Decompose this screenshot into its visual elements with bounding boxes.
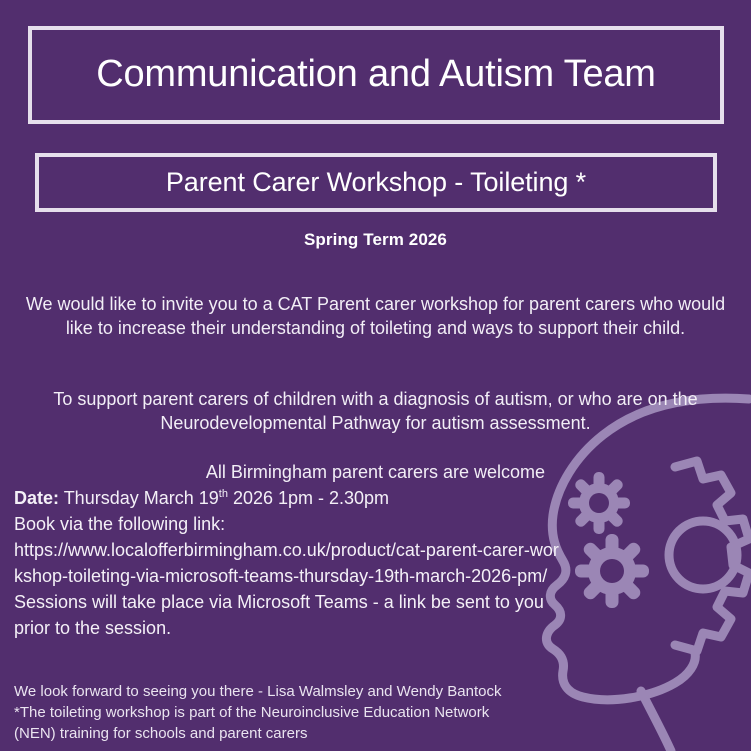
intro-paragraph-invite: We would like to invite you to a CAT Par… bbox=[14, 292, 737, 340]
date-label: Date: bbox=[14, 488, 59, 508]
subtitle-box: Parent Carer Workshop - Toileting * bbox=[35, 153, 717, 212]
date-ordinal-suffix: th bbox=[219, 488, 228, 500]
sessions-note-line: Sessions will take place via Microsoft T… bbox=[14, 589, 559, 641]
booking-link[interactable]: https://www.localofferbirmingham.co.uk/p… bbox=[14, 537, 559, 589]
intro-paragraph-eligibility: To support parent carers of children wit… bbox=[14, 387, 737, 435]
booking-intro-line: Book via the following link: bbox=[14, 511, 559, 537]
large-gear-icon bbox=[669, 461, 749, 651]
term-label: Spring Term 2026 bbox=[0, 230, 751, 250]
sign-off-line: We look forward to seeing you there - Li… bbox=[14, 681, 559, 702]
small-gear-lower-icon bbox=[575, 534, 649, 608]
intro-paragraph-welcome: All Birmingham parent carers are welcome bbox=[14, 460, 737, 484]
workshop-subtitle: Parent Carer Workshop - Toileting * bbox=[166, 168, 586, 198]
footer-block: We look forward to seeing you there - Li… bbox=[14, 681, 559, 744]
page-title: Communication and Autism Team bbox=[96, 54, 656, 96]
date-value-part1: Thursday March 19 bbox=[59, 488, 219, 508]
date-line: Date: Thursday March 19th 2026 1pm - 2.3… bbox=[14, 485, 559, 511]
poster-canvas: Communication and Autism Team Parent Car… bbox=[0, 0, 751, 751]
asterisk-note-line-1: *The toileting workshop is part of the N… bbox=[14, 702, 559, 723]
title-box: Communication and Autism Team bbox=[28, 26, 724, 124]
asterisk-note-line-2: (NEN) training for schools and parent ca… bbox=[14, 723, 559, 744]
date-value-part2: 2026 1pm - 2.30pm bbox=[228, 488, 389, 508]
details-block: Date: Thursday March 19th 2026 1pm - 2.3… bbox=[14, 485, 559, 641]
